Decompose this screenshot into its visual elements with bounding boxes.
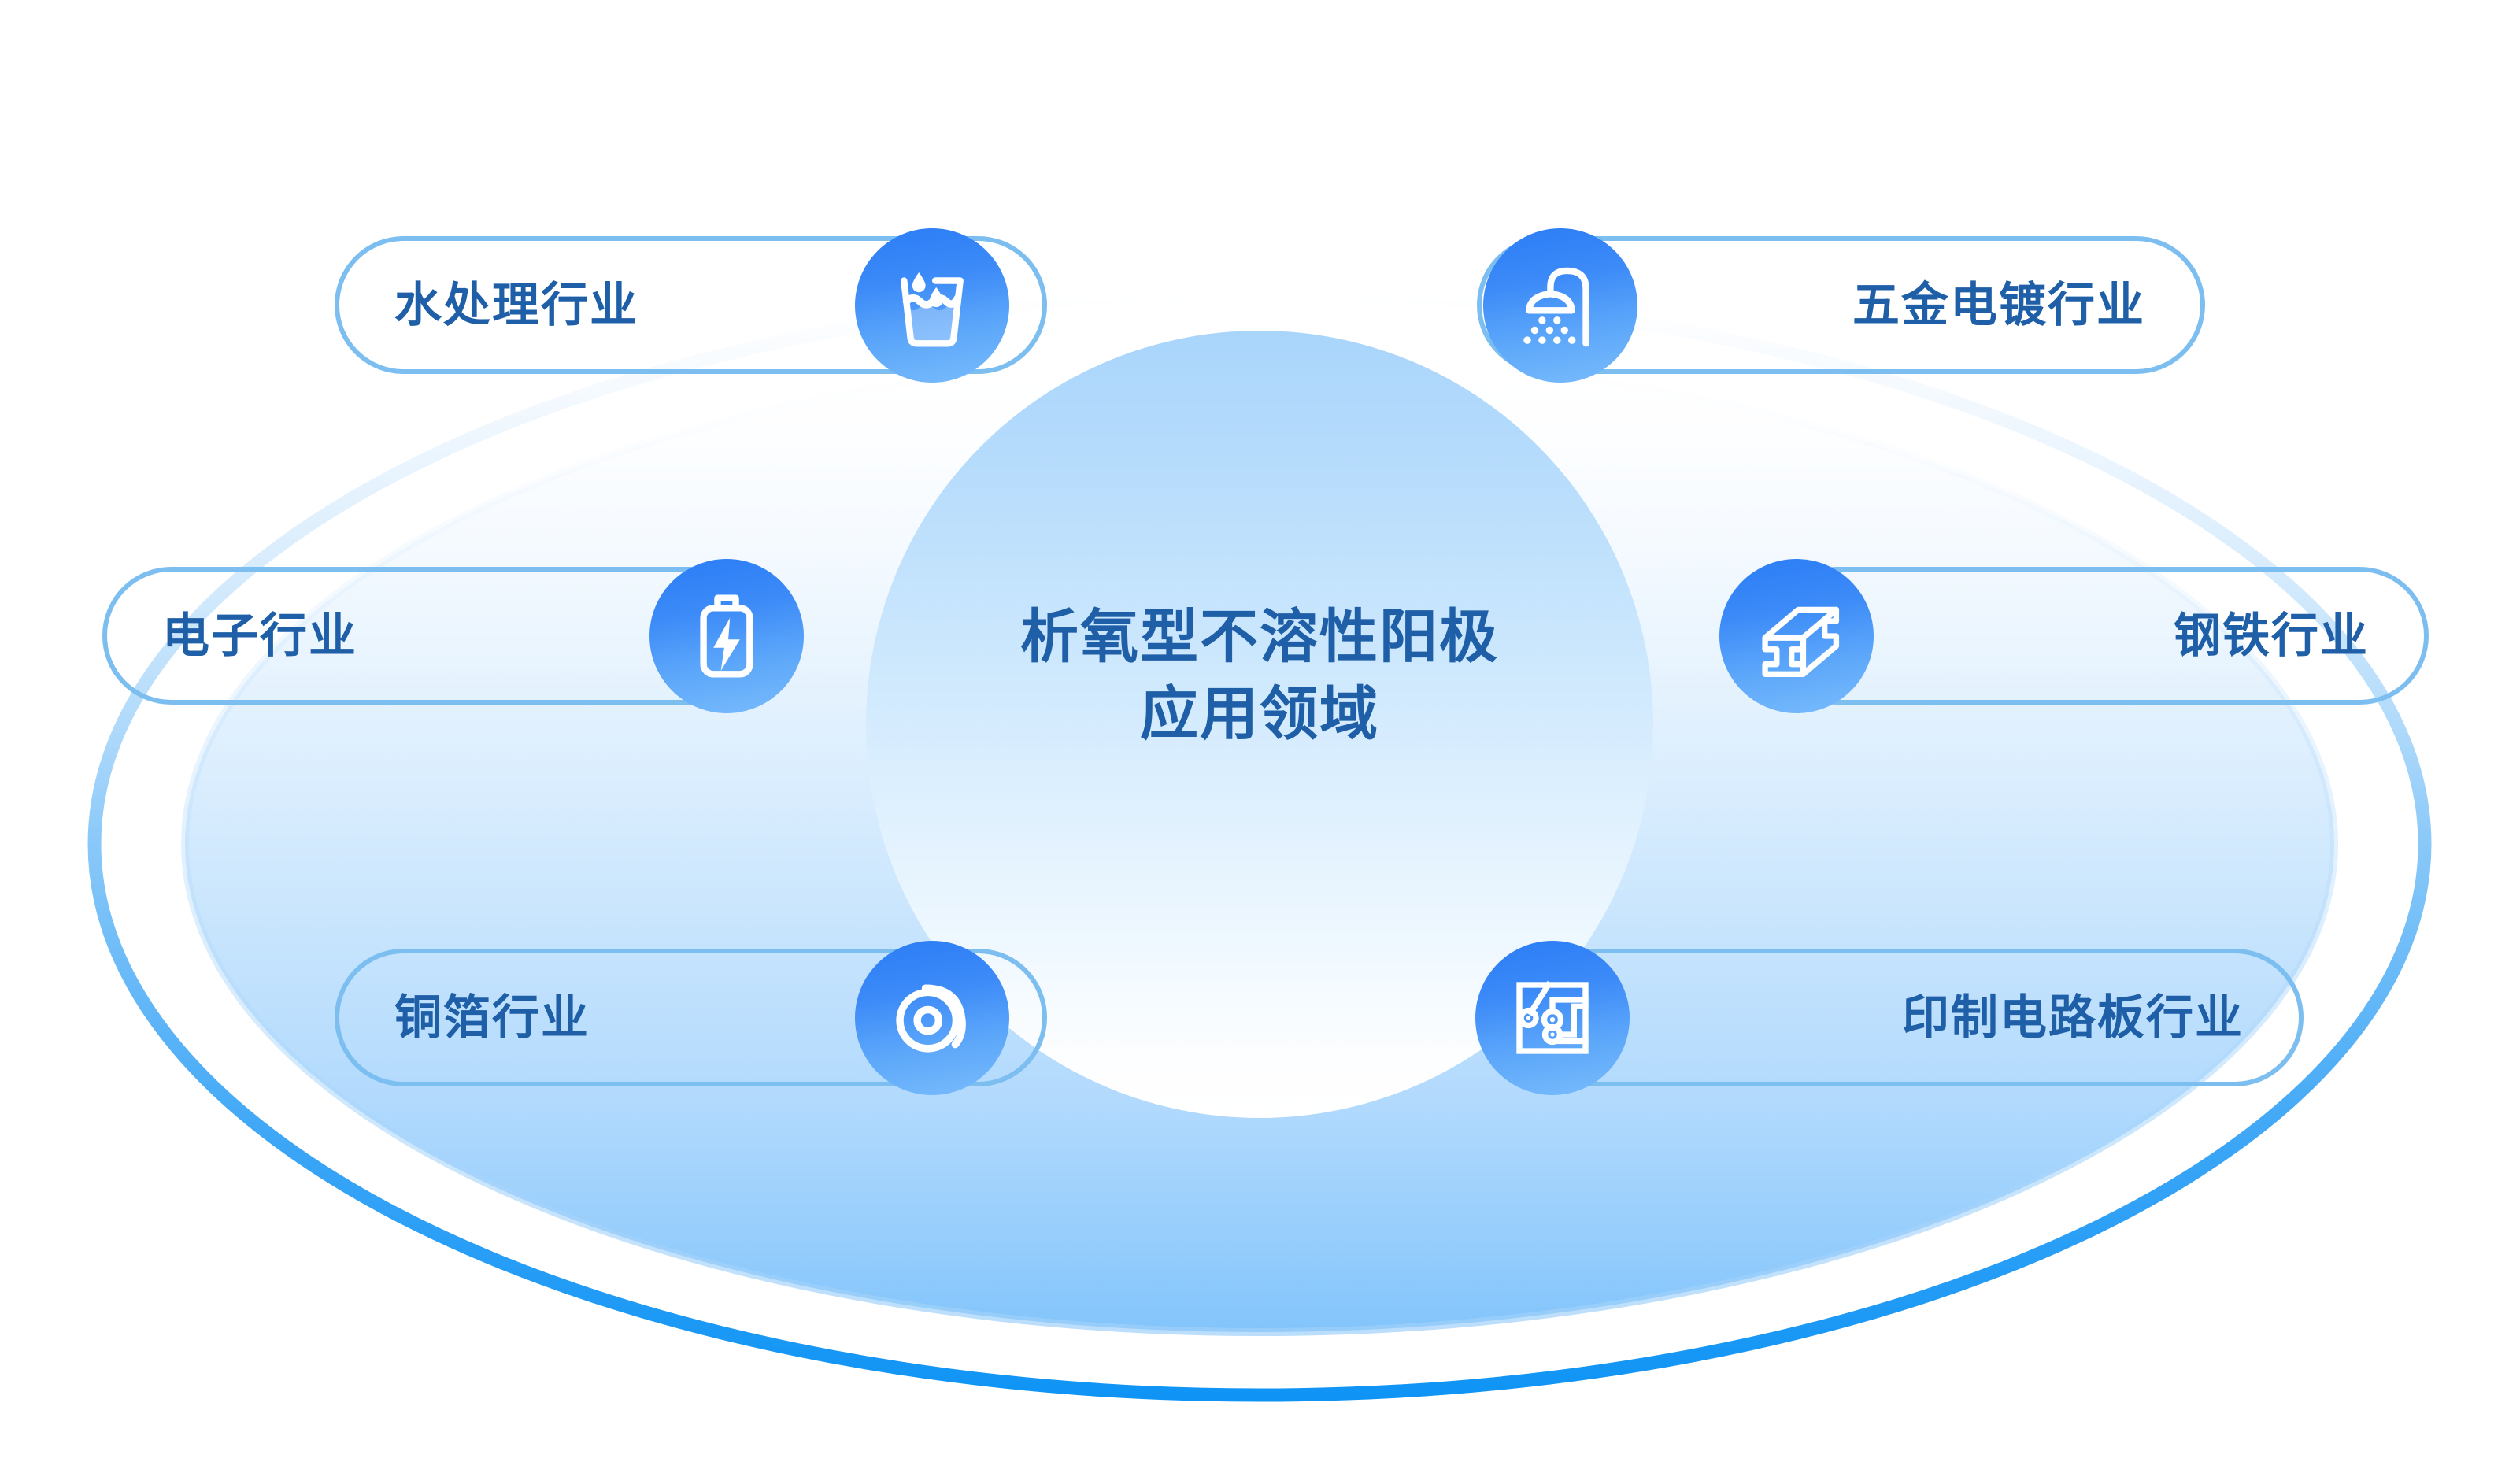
pill-label-copper-foil: 铜箔行业 bbox=[339, 994, 590, 1042]
center-title-line2: 应用领域 bbox=[866, 675, 1653, 753]
pill-label-electronics: 电子行业 bbox=[107, 613, 357, 660]
i-beam-icon bbox=[1719, 559, 1874, 713]
battery-bolt-icon bbox=[649, 559, 804, 713]
shower-head-icon bbox=[1483, 228, 1637, 383]
circuit-board-icon bbox=[1475, 941, 1630, 1095]
center-title: 析氧型不溶性阳极 应用领域 bbox=[866, 598, 1653, 752]
center-title-line1: 析氧型不溶性阳极 bbox=[1020, 604, 1499, 669]
pill-label-steel: 钢铁行业 bbox=[2174, 613, 2424, 660]
pill-label-hardware-plating: 五金电镀行业 bbox=[1852, 282, 2200, 329]
foil-roll-icon bbox=[855, 941, 1009, 1095]
pill-label-water-treatment: 水处理行业 bbox=[339, 282, 638, 329]
pill-label-pcb: 印制电路板行业 bbox=[1902, 994, 2299, 1042]
infographic-canvas: 析氧型不溶性阳极 应用领域 水处理行业 五金电镀行业 bbox=[0, 0, 2520, 1462]
water-glass-icon bbox=[855, 228, 1009, 383]
